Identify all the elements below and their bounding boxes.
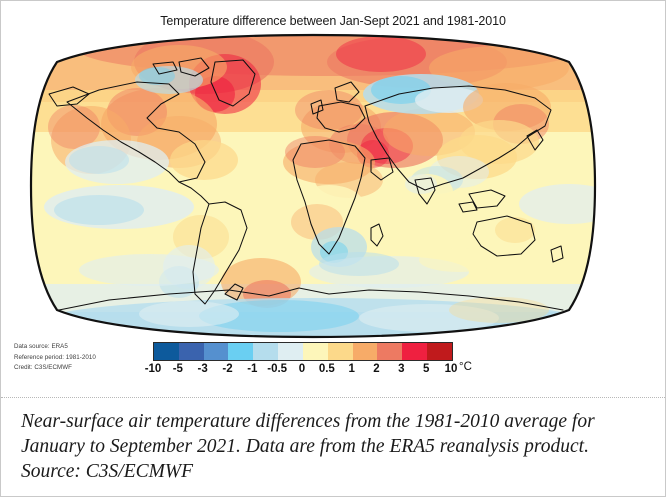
colorbar-tick-labels: -10-5-3-2-1-0.500.5123510 (153, 363, 451, 383)
colorbar-segment (253, 343, 278, 360)
colorbar-segment (328, 343, 353, 360)
colorbar-tick: -3 (198, 363, 208, 375)
colorbar-segment (402, 343, 427, 360)
colorbar-segment (154, 343, 179, 360)
colorbar-tick: 5 (423, 363, 429, 375)
colorbar-unit-label: °C (459, 361, 472, 373)
colorbar-segment (179, 343, 204, 360)
colorbar-tick: -0.5 (267, 363, 287, 375)
credit-data-source: Data source: ERA5 (14, 342, 96, 353)
colorbar-segment (353, 343, 378, 360)
colorbar: -10-5-3-2-1-0.500.5123510 (153, 342, 453, 386)
colorbar-tick: -2 (222, 363, 232, 375)
credit-reference-period: Reference period: 1981-2010 (14, 353, 96, 364)
colorbar-tick: -5 (173, 363, 183, 375)
colorbar-tick: 0.5 (319, 363, 335, 375)
credit-attribution: Credit: C3S/ECMWF (14, 363, 96, 374)
colorbar-gradient (153, 342, 453, 361)
caption-text: Near-surface air temperature differences… (21, 409, 643, 484)
credits-block: Data source: ERA5 Reference period: 1981… (14, 342, 96, 374)
colorbar-segment (377, 343, 402, 360)
colorbar-segment (278, 343, 303, 360)
figure-caption: Near-surface air temperature differences… (1, 397, 665, 484)
colorbar-segment (427, 343, 452, 360)
colorbar-tick: -10 (145, 363, 162, 375)
world-map (29, 32, 597, 340)
colorbar-tick: 2 (373, 363, 379, 375)
colorbar-tick: -1 (247, 363, 257, 375)
colorbar-segment (204, 343, 229, 360)
climate-map-figure: Temperature difference between Jan-Sept … (1, 1, 665, 397)
chart-title: Temperature difference between Jan-Sept … (1, 14, 665, 28)
map-svg (29, 32, 597, 340)
colorbar-tick: 0 (299, 363, 305, 375)
colorbar-segment (303, 343, 328, 360)
colorbar-tick: 3 (398, 363, 404, 375)
figure-card: Temperature difference between Jan-Sept … (0, 0, 666, 497)
colorbar-tick: 1 (348, 363, 354, 375)
colorbar-segment (228, 343, 253, 360)
colorbar-tick: 10 (445, 363, 458, 375)
anomaly-field (29, 32, 597, 340)
